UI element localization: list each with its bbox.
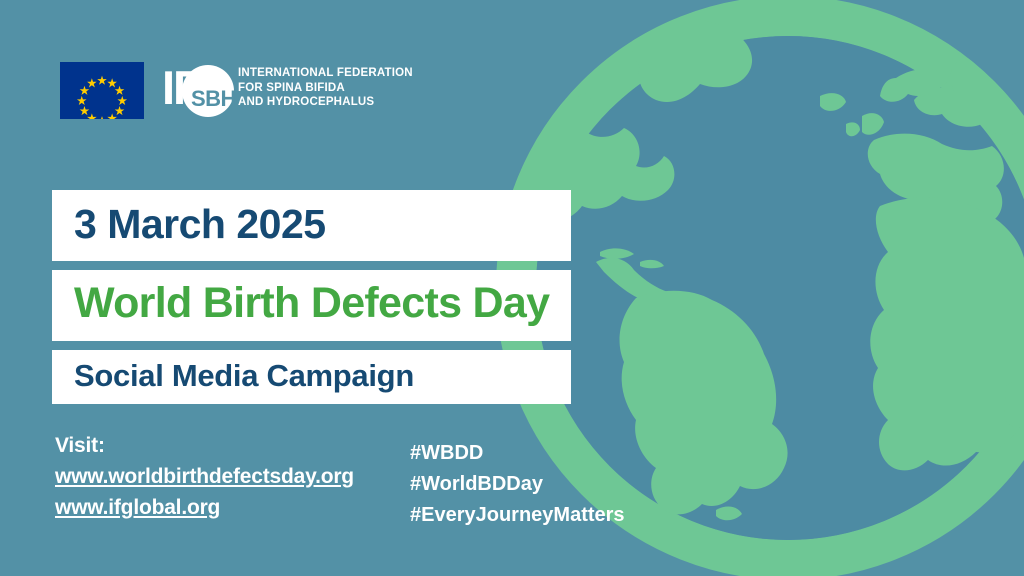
iceland-shape (820, 93, 846, 111)
ifsbh-sbh-text: SBH (191, 87, 236, 111)
central-america-shape (596, 258, 668, 303)
website-link-ifglobal[interactable]: www.ifglobal.org (55, 492, 410, 523)
western-europe-shape (868, 134, 1004, 227)
greenland-shape (632, 18, 752, 102)
hashtag-block: #WBDD #WorldBDDay #EveryJourneyMatters (410, 430, 625, 531)
campaign-poster: IF SBH INTERNATIONAL FEDERATION FOR SPIN… (0, 0, 1024, 576)
madagascar-shape (1004, 382, 1024, 427)
page-subtitle: Social Media Campaign (52, 350, 571, 404)
alaska-shape (556, 19, 622, 41)
hashtag-wbdd[interactable]: #WBDD (410, 438, 625, 469)
headline-stack: 3 March 2025 World Birth Defects Day Soc… (52, 190, 571, 404)
europe-shape (914, 50, 1024, 135)
website-link-worldbirthdefectsday[interactable]: www.worldbirthdefectsday.org (55, 461, 410, 492)
caribbean-island-2 (640, 260, 664, 268)
ifsbh-logo-lockup: IF SBH INTERNATIONAL FEDERATION FOR SPIN… (60, 62, 413, 124)
scandinavia-shape (880, 69, 950, 102)
british-isles-shape-2 (846, 122, 860, 136)
hashtag-worldbdday[interactable]: #WorldBDDay (410, 469, 625, 500)
visit-label: Visit: (55, 430, 410, 461)
visit-block: Visit: www.worldbirthdefectsday.org www.… (55, 430, 410, 531)
org-name-line-1: INTERNATIONAL FEDERATION (238, 66, 413, 81)
footer: Visit: www.worldbirthdefectsday.org www.… (55, 430, 1024, 531)
european-union-flag-icon (60, 62, 144, 119)
caribbean-islands-shape (600, 248, 634, 258)
hashtag-everyjourneymatters[interactable]: #EveryJourneyMatters (410, 500, 625, 531)
org-name-line-2: FOR SPINA BIFIDA (238, 81, 413, 96)
ifsbh-monogram-icon: IF SBH (162, 62, 234, 124)
page-title: World Birth Defects Day (52, 270, 571, 341)
event-date: 3 March 2025 (52, 190, 571, 261)
british-isles-shape (862, 113, 884, 135)
organisation-name: INTERNATIONAL FEDERATION FOR SPINA BIFID… (238, 66, 413, 110)
org-name-line-3: AND HYDROCEPHALUS (238, 95, 413, 110)
